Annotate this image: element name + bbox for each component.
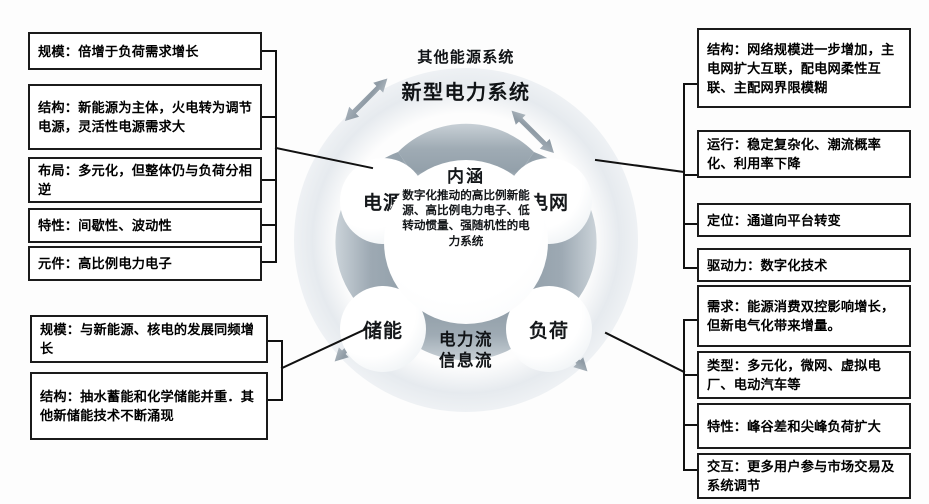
box-text: 特性：峰谷差和尖峰负荷扩大 bbox=[707, 417, 881, 436]
box-power-characteristic[interactable]: 特性：间歇性、波动性 bbox=[28, 208, 262, 243]
box-power-scale[interactable]: 规模：倍增于负荷需求增长 bbox=[28, 32, 262, 70]
lead-grid bbox=[596, 160, 684, 172]
box-text: 类型：多元化，微网、虚拟电厂、电动汽车等 bbox=[707, 356, 903, 394]
box-text: 规模：与新能源、核电的发展同频增长 bbox=[40, 320, 260, 358]
box-text: 运行：稳定复杂化、潮流概率化、利用率下降 bbox=[707, 135, 903, 173]
bracket-load-1 bbox=[684, 320, 697, 470]
box-text: 结构：抽水蓄能和化学储能并重．其他新储能技术不断涌现 bbox=[40, 387, 260, 425]
box-load-characteristic[interactable]: 特性：峰谷差和尖峰负荷扩大 bbox=[697, 403, 911, 449]
box-text: 布局：多元化，但整体仍与负荷分相逆 bbox=[38, 161, 254, 199]
lead-power-source bbox=[276, 148, 372, 168]
box-storage-structure[interactable]: 结构：抽水蓄能和化学储能并重．其他新储能技术不断涌现 bbox=[30, 372, 268, 440]
box-text: 结构：新能源为主体，火电转为调节电源，灵活性电源需求大 bbox=[38, 98, 254, 136]
box-text: 特性：间歇性、波动性 bbox=[38, 216, 172, 235]
lead-load bbox=[606, 333, 684, 372]
box-text: 需求：能源消费双控影响增长，但新电气化带来增量。 bbox=[707, 297, 903, 335]
bracket-power-3 bbox=[262, 180, 276, 225]
box-grid-structure[interactable]: 结构：网络规模进一步增加，主电网扩大互联，配电网柔性互联、主配网界限模糊 bbox=[697, 28, 911, 108]
lead-storage bbox=[282, 329, 366, 368]
box-text: 元件：高比例电力电子 bbox=[38, 254, 172, 273]
box-storage-scale[interactable]: 规模：与新能源、核电的发展同频增长 bbox=[30, 315, 268, 363]
bracket-power-1 bbox=[262, 51, 276, 117]
bracket-power-4 bbox=[262, 225, 276, 262]
box-text: 驱动力：数字化技术 bbox=[707, 256, 828, 275]
box-grid-driver[interactable]: 驱动力：数字化技术 bbox=[697, 248, 911, 282]
bracket-storage-1 bbox=[268, 341, 282, 400]
box-grid-position[interactable]: 定位：通道向平台转变 bbox=[697, 203, 911, 237]
box-power-structure[interactable]: 结构：新能源为主体，火电转为调节电源，灵活性电源需求大 bbox=[28, 84, 262, 150]
bracket-power-2 bbox=[262, 117, 276, 180]
box-text: 交互：更多用户参与市场交易及系统调节 bbox=[707, 457, 903, 495]
box-power-component[interactable]: 元件：高比例电力电子 bbox=[28, 246, 262, 281]
box-grid-operation[interactable]: 运行：稳定复杂化、潮流概率化、利用率下降 bbox=[697, 130, 911, 178]
box-text: 规模：倍增于负荷需求增长 bbox=[38, 42, 199, 61]
box-power-layout[interactable]: 布局：多元化，但整体仍与负荷分相逆 bbox=[28, 157, 262, 203]
diagram-canvas: 其他能源系统 新型电力系统 电源 电网 储能 负荷 内涵 数字化推动的高比例新能… bbox=[0, 0, 929, 504]
box-text: 结构：网络规模进一步增加，主电网扩大互联，配电网柔性互联、主配网界限模糊 bbox=[707, 40, 903, 97]
box-text: 定位：通道向平台转变 bbox=[707, 211, 841, 230]
box-load-interaction[interactable]: 交互：更多用户参与市场交易及系统调节 bbox=[697, 453, 911, 499]
box-load-type[interactable]: 类型：多元化，微网、虚拟电厂、电动汽车等 bbox=[697, 351, 911, 399]
box-load-demand[interactable]: 需求：能源消费双控影响增长，但新电气化带来增量。 bbox=[697, 285, 911, 347]
